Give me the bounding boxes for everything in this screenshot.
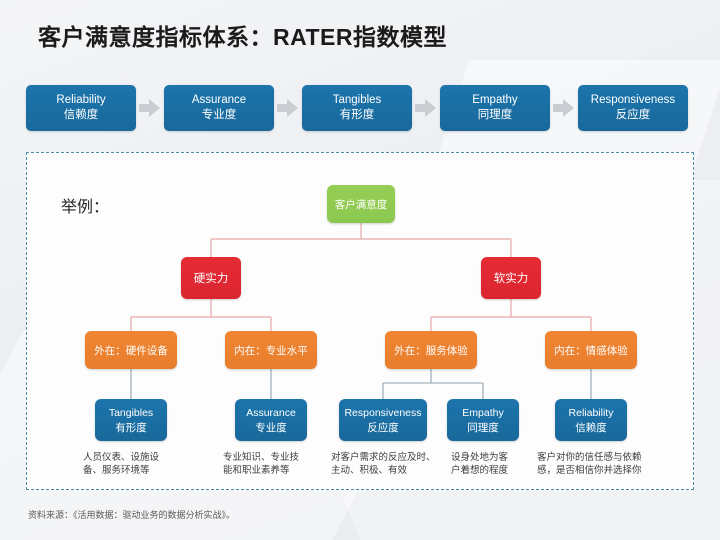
- title-bar: 客户满意度指标体系：RATER指数模型: [38, 16, 678, 54]
- page-title: 客户满意度指标体系：RATER指数模型: [38, 18, 447, 52]
- rater-box-reliability[interactable]: Reliability 信赖度: [26, 85, 136, 131]
- tree-node-label-en: Reliability: [569, 406, 614, 420]
- rater-item-tangibles[interactable]: Tangibles 有形度: [302, 85, 412, 131]
- tree-node-label-en: Empathy: [462, 406, 503, 420]
- tree-node-tangibles[interactable]: Tangibles 有形度: [95, 399, 167, 441]
- tree-node-label-en: Assurance: [246, 406, 296, 420]
- tree-node-soft-power[interactable]: 软实力: [481, 257, 541, 299]
- tree-node-label: 软实力: [494, 270, 529, 286]
- rater-strip: Reliability 信赖度 Assurance 专业度 Tangibles …: [26, 84, 694, 132]
- tree-node-responsiveness[interactable]: Responsiveness 反应度: [339, 399, 427, 441]
- tree-node-reliability[interactable]: Reliability 信赖度: [555, 399, 627, 441]
- tree-node-label-cn: 专业度: [255, 421, 287, 435]
- rater-item-reliability[interactable]: Reliability 信赖度: [26, 85, 136, 131]
- right-arrow-icon: [274, 98, 302, 118]
- rater-label-en: Empathy: [472, 94, 517, 107]
- tree-node-label: 内在：情感体验: [554, 343, 628, 358]
- rater-item-empathy[interactable]: Empathy 同理度: [440, 85, 550, 131]
- tree-node-hard-power[interactable]: 硬实力: [181, 257, 241, 299]
- rater-label-cn: 信赖度: [64, 109, 99, 122]
- caption-line: 客户对你的信任感与依赖: [537, 451, 665, 464]
- right-arrow-icon: [412, 98, 440, 118]
- rater-label-cn: 专业度: [202, 109, 237, 122]
- tree-node-label: 外在：硬件设备: [94, 343, 168, 358]
- tree-node-root[interactable]: 客户满意度: [327, 185, 395, 223]
- rater-item-responsiveness[interactable]: Responsiveness 反应度: [578, 85, 688, 131]
- rater-item-assurance[interactable]: Assurance 专业度: [164, 85, 274, 131]
- tree-diagram: 客户满意度 硬实力 软实力 外在：硬件设备 内在：专业水平 外在：服务体验 内在…: [27, 153, 695, 491]
- tree-node-internal-emotion[interactable]: 内在：情感体验: [545, 331, 637, 369]
- tree-node-label-cn: 反应度: [367, 421, 399, 435]
- caption-empathy: 设身处地为客 户着想的程度: [451, 451, 531, 477]
- caption-line: 人员仪表、设施设: [83, 451, 185, 464]
- tree-node-label: 内在：专业水平: [234, 343, 308, 358]
- right-arrow-icon: [550, 98, 578, 118]
- tree-node-empathy[interactable]: Empathy 同理度: [447, 399, 519, 441]
- caption-responsiveness: 对客户需求的反应及时、 主动、积极、有效: [331, 451, 447, 477]
- rater-label-en: Assurance: [192, 94, 246, 107]
- tree-node-label: 硬实力: [194, 270, 229, 286]
- tree-node-label: 客户满意度: [335, 197, 388, 212]
- caption-line: 感，是否相信你并选择你: [537, 464, 665, 477]
- tree-node-external-service[interactable]: 外在：服务体验: [385, 331, 477, 369]
- tree-node-label-cn: 信赖度: [575, 421, 607, 435]
- caption-line: 户着想的程度: [451, 464, 531, 477]
- caption-line: 对客户需求的反应及时、: [331, 451, 447, 464]
- source-note: 资料来源：《活用数据：驱动业务的数据分析实战》。: [28, 508, 235, 521]
- rater-box-tangibles[interactable]: Tangibles 有形度: [302, 85, 412, 131]
- caption-assurance: 专业知识、专业技 能和职业素养等: [223, 451, 325, 477]
- tree-node-label-en: Tangibles: [109, 406, 153, 420]
- rater-box-empathy[interactable]: Empathy 同理度: [440, 85, 550, 131]
- rater-box-responsiveness[interactable]: Responsiveness 反应度: [578, 85, 688, 131]
- caption-line: 主动、积极、有效: [331, 464, 447, 477]
- caption-line: 设身处地为客: [451, 451, 531, 464]
- tree-node-label-cn: 同理度: [467, 421, 499, 435]
- tree-node-label-en: Responsiveness: [344, 406, 421, 420]
- caption-reliability: 客户对你的信任感与依赖 感，是否相信你并选择你: [537, 451, 665, 477]
- tree-node-external-hardware[interactable]: 外在：硬件设备: [85, 331, 177, 369]
- rater-label-en: Responsiveness: [591, 94, 675, 107]
- rater-label-en: Tangibles: [333, 94, 382, 107]
- example-container: 举例：: [26, 152, 694, 490]
- rater-label-cn: 同理度: [478, 109, 513, 122]
- caption-line: 专业知识、专业技: [223, 451, 325, 464]
- rater-label-cn: 反应度: [616, 109, 651, 122]
- caption-tangibles: 人员仪表、设施设 备、服务环境等: [83, 451, 185, 477]
- tree-node-label-cn: 有形度: [115, 421, 147, 435]
- caption-line: 能和职业素养等: [223, 464, 325, 477]
- rater-label-cn: 有形度: [340, 109, 375, 122]
- right-arrow-icon: [136, 98, 164, 118]
- rater-label-en: Reliability: [56, 94, 105, 107]
- tree-node-assurance[interactable]: Assurance 专业度: [235, 399, 307, 441]
- caption-line: 备、服务环境等: [83, 464, 185, 477]
- slide-canvas: 客户满意度指标体系：RATER指数模型 Reliability 信赖度 Assu…: [0, 0, 720, 540]
- tree-node-label: 外在：服务体验: [394, 343, 468, 358]
- rater-box-assurance[interactable]: Assurance 专业度: [164, 85, 274, 131]
- tree-node-internal-expertise[interactable]: 内在：专业水平: [225, 331, 317, 369]
